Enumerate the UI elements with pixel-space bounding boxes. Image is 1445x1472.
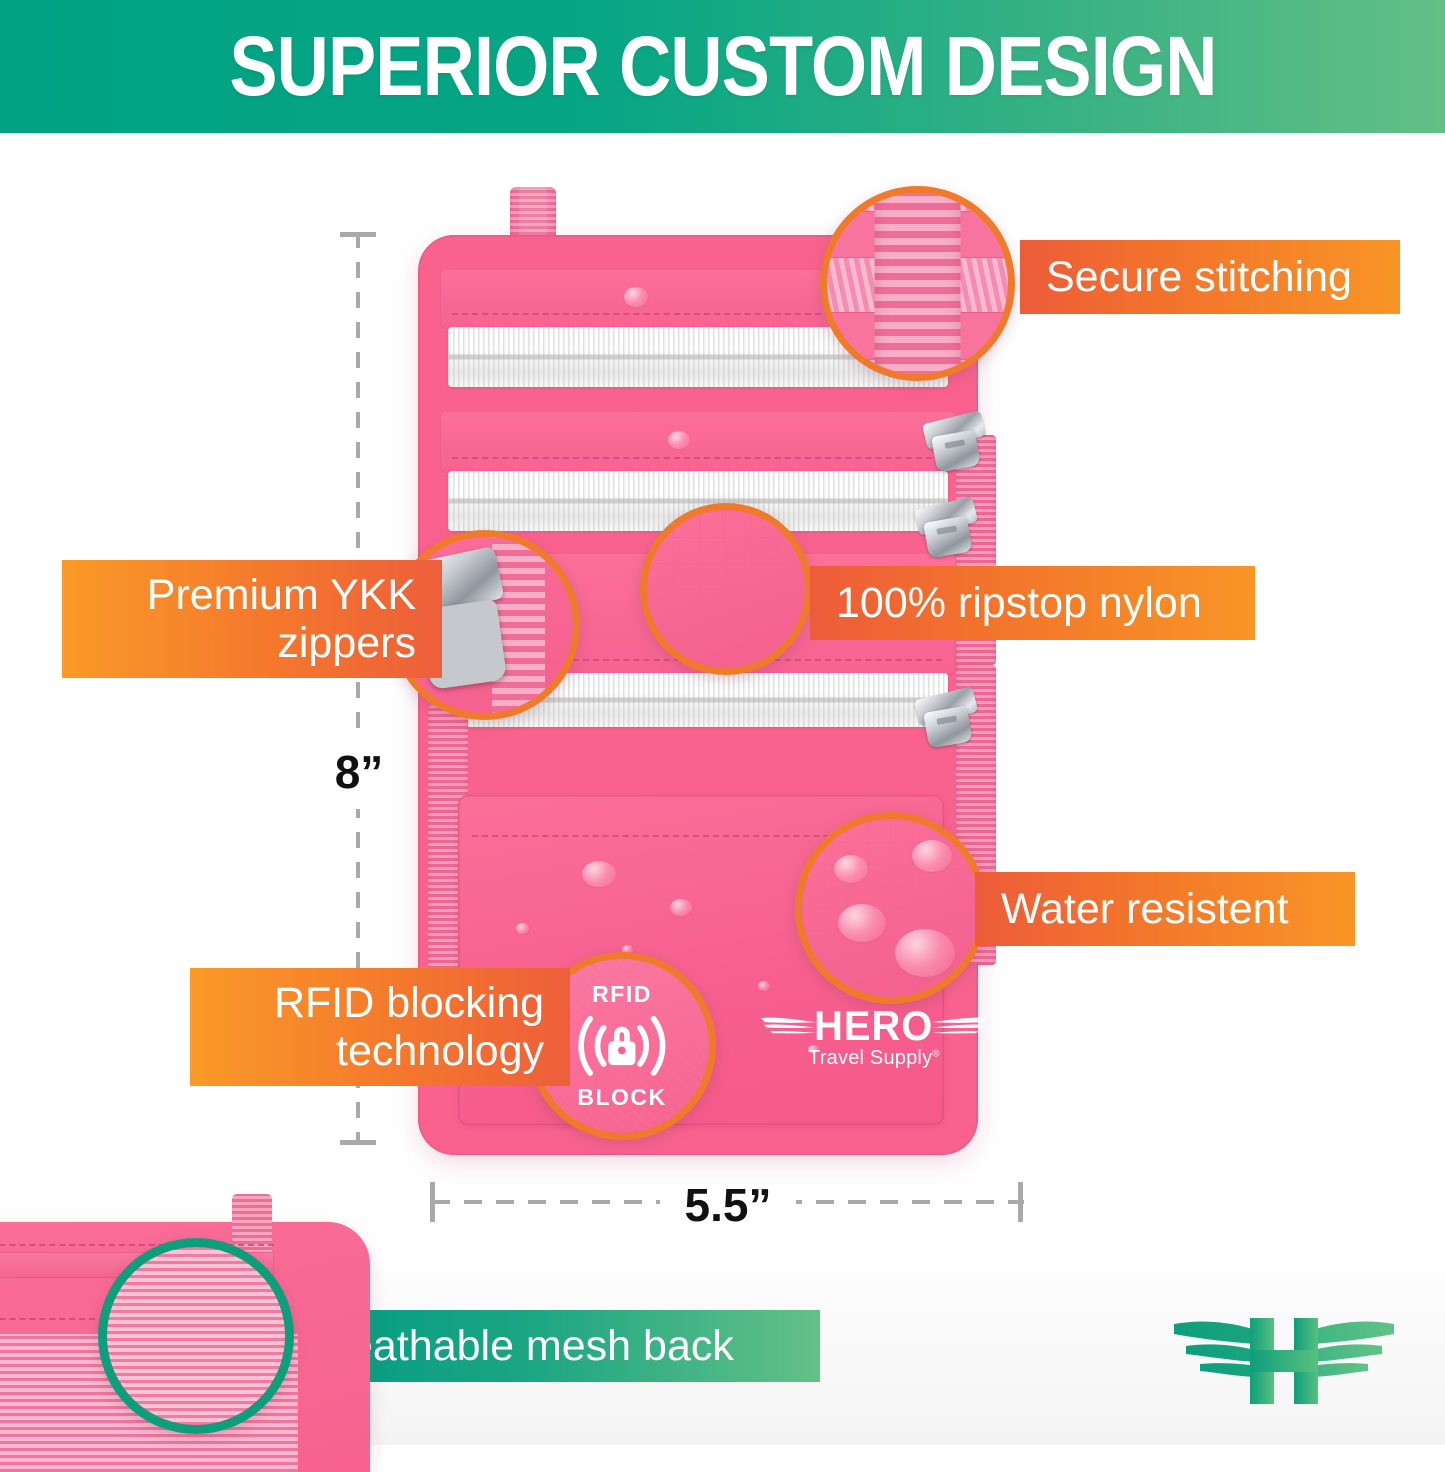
zipper-pull-1 [918, 411, 992, 473]
water-droplet [895, 929, 955, 977]
infographic-canvas: SUPERIOR CUSTOM DESIGN 8” 5.5” [0, 0, 1445, 1445]
stitch-line-2 [452, 457, 942, 459]
callout-label-text: Breathable mesh back [306, 1322, 734, 1370]
header-banner: SUPERIOR CUSTOM DESIGN [0, 0, 1445, 133]
magnifier-secure-stitching [820, 186, 1015, 381]
rfid-label-bottom: BLOCK [554, 1084, 690, 1111]
callout-rfid-blocking: RFID blocking technology [190, 968, 570, 1086]
callout-label-text: Secure stitching [1046, 253, 1352, 301]
water-droplet [808, 1045, 819, 1054]
width-dimension-cap-right [1018, 1182, 1023, 1222]
webbing-zoom [492, 530, 545, 720]
water-droplet [516, 923, 529, 934]
water-droplet [834, 855, 868, 883]
water-droplet [582, 861, 616, 887]
magnifier-ripstop-nylon [640, 503, 812, 675]
callout-label-text: 100% ripstop nylon [836, 579, 1202, 627]
water-droplet [668, 431, 690, 449]
callout-water-resistent: Water resistent [975, 872, 1355, 946]
callout-label-text: Premium YKK zippers [147, 571, 416, 667]
water-droplet [912, 840, 952, 872]
height-dimension-label: 8” [318, 735, 400, 809]
callout-label-text: RFID blocking technology [274, 979, 544, 1075]
zipper-pull-body [931, 429, 981, 472]
width-dimension-label: 5.5” [660, 1172, 796, 1238]
width-dimension-cap-left [430, 1182, 435, 1222]
water-droplet [624, 287, 648, 307]
height-dimension-cap-bottom [340, 1140, 376, 1145]
water-droplet [838, 904, 886, 942]
water-droplet [758, 981, 770, 991]
page-title: SUPERIOR CUSTOM DESIGN [229, 18, 1216, 115]
webbing-zoom [874, 186, 961, 381]
callout-ykk-zippers: Premium YKK zippers [62, 560, 442, 678]
zipper-pull-body [923, 705, 973, 748]
hero-winged-h-icon [1152, 1300, 1416, 1420]
fabric-band-middle [440, 411, 956, 473]
rfid-block-badge: RFID BLOCK [554, 978, 690, 1114]
zipper-pull-body [923, 515, 973, 558]
brand-logo-h [1152, 1300, 1416, 1420]
rfid-label-top: RFID [554, 981, 690, 1008]
zipper-pull-3 [910, 687, 984, 749]
callout-secure-stitching: Secure stitching [1020, 240, 1400, 314]
magnifier-water-resistent [795, 812, 987, 1004]
height-dimension-cap-top [340, 232, 376, 237]
callout-ripstop-nylon: 100% ripstop nylon [810, 566, 1255, 640]
magnifier-breathable-mesh [98, 1238, 294, 1434]
zipper-pull-2 [910, 497, 984, 559]
callout-label-text: Water resistent [1001, 885, 1289, 933]
water-droplet [670, 899, 692, 916]
